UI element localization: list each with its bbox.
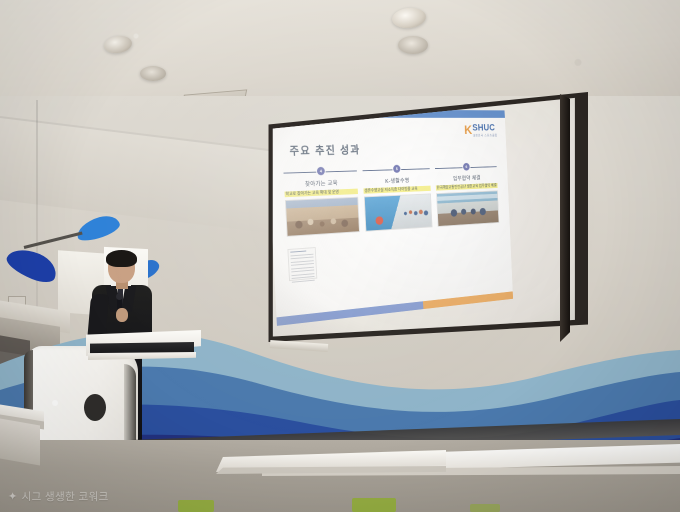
- step-badge: 4: [317, 167, 325, 176]
- slide-accent-top-left: [266, 109, 350, 118]
- chair: [178, 500, 214, 512]
- timeline-connector: 6: [435, 162, 497, 171]
- logo-k-mark: K: [464, 124, 472, 137]
- watermark: ✦ 시그 생생한 코워크: [8, 489, 109, 504]
- column-heading: 업무협약 체결: [435, 173, 497, 183]
- podium-highlight: [52, 400, 58, 406]
- chair: [352, 498, 396, 512]
- presenter-hand: [116, 308, 128, 322]
- column-photo: [436, 191, 499, 227]
- podium-speaker-grille: [84, 394, 106, 421]
- slide-stage: K SHUC 대한민국 스포츠클럽 주요 추진 성과 4 찾아가는 교육: [266, 101, 527, 338]
- slide-column: 4 찾아가는 교육 학교로 찾아가는 교육 확대 및 운영: [283, 166, 360, 237]
- wall-seam: [36, 100, 38, 340]
- screen-surface: K SHUC 대한민국 스포츠클럽 주요 추진 성과 4 찾아가는 교육: [266, 96, 578, 338]
- column-highlight: 생존수영교실 저소득층 다이빙풀 교육: [363, 185, 430, 194]
- slide-title: 주요 추진 성과: [289, 142, 361, 158]
- column-heading: 찾아가는 교육: [284, 178, 358, 189]
- timeline-connector: 4: [283, 166, 357, 177]
- slide-side-list: [287, 247, 317, 281]
- logo-tagline: 대한민국 스포츠클럽: [473, 134, 498, 137]
- slide-accent-bottom-right: [423, 291, 513, 309]
- timeline-connector: 5: [362, 164, 429, 174]
- screen-right-edge: [560, 94, 570, 342]
- sparkle-icon: ✦: [8, 490, 18, 503]
- chair: [470, 504, 500, 512]
- slide-column: 6 업무협약 체결 한국해양교통안전공단 생존교육 업무협약 체결: [435, 162, 499, 227]
- column-photo: [364, 194, 433, 232]
- k-shuc-logo: K SHUC 대한민국 스포츠클럽: [464, 124, 497, 138]
- projection-screen: K SHUC 대한민국 스포츠클럽 주요 추진 성과 4 찾아가는 교육: [262, 92, 588, 352]
- microphone-capsule: [116, 293, 123, 300]
- slide-columns: 4 찾아가는 교육 학교로 찾아가는 교육 확대 및 운영 5 K-생활수영 생…: [283, 162, 500, 237]
- column-photo: [285, 197, 360, 237]
- table-side: [0, 418, 40, 465]
- watermark-text: 시그 생생한 코워크: [22, 489, 109, 504]
- presentation-slide: K SHUC 대한민국 스포츠클럽 주요 추진 성과 4 찾아가는 교육: [266, 109, 513, 326]
- column-highlight: 한국해양교통안전공단 생존교육 업무협약 체결: [436, 183, 498, 191]
- column-highlight: 학교로 찾아가는 교육 확대 및 운영: [284, 188, 358, 197]
- ceiling-downlight-icon: [398, 36, 428, 54]
- column-heading: K-생활수영: [363, 175, 430, 185]
- logo-name: SHUC: [472, 124, 497, 133]
- presenter-hair: [106, 250, 137, 267]
- slide-accent-bottom-left: [277, 301, 424, 326]
- step-badge: 5: [393, 165, 400, 173]
- slide-column: 5 K-생활수영 생존수영교실 저소득층 다이빙풀 교육: [362, 164, 432, 232]
- photo-scene: K SHUC 대한민국 스포츠클럽 주요 추진 성과 4 찾아가는 교육: [0, 0, 680, 512]
- step-badge: 6: [463, 163, 470, 171]
- podium-monitor-lip: [88, 352, 196, 360]
- ceiling-downlight-icon: [140, 66, 166, 81]
